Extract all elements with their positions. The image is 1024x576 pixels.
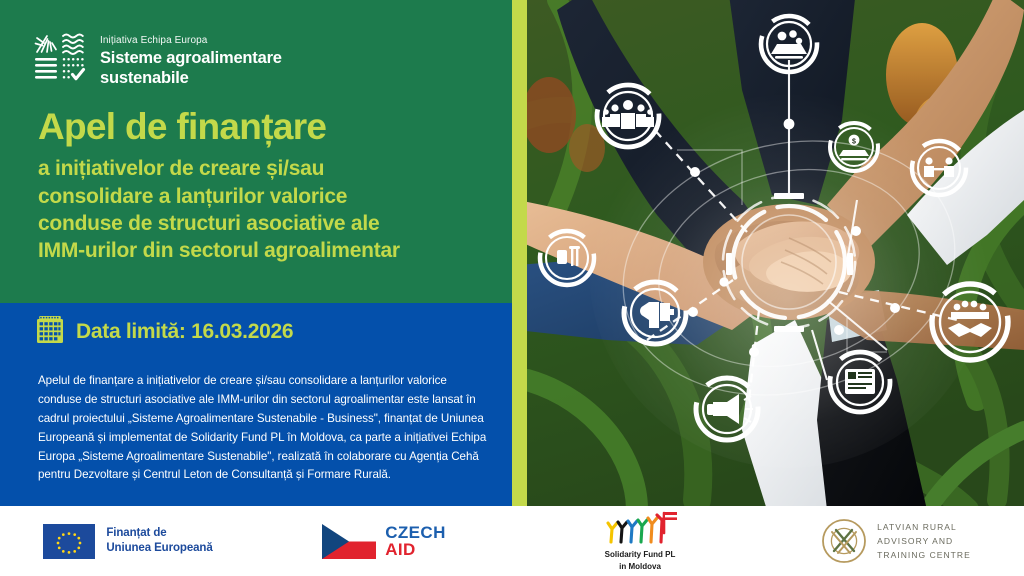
headline-sub-line-1: a inițiativelor de creare și/sau (38, 155, 488, 182)
eu-flag-icon (43, 524, 95, 559)
solidarity-fund-logo: Solidarity Fund PL in Moldova (602, 509, 678, 573)
headline-sub-line-3: conduse de structuri asociative ale (38, 210, 488, 237)
brand-title-line-1: Sisteme agroalimentare (100, 49, 282, 69)
lime-divider-stripe (512, 0, 527, 506)
poster-canvas: Inițiativa Echipa Europa Sisteme agroali… (0, 0, 1024, 576)
headline-block: Apel de finanțare a inițiativelor de cre… (38, 108, 488, 264)
sustainable-agrifood-grid-icon (33, 30, 89, 82)
czech-flag-icon (322, 524, 376, 559)
headline-sub-line-4: IMM-urilor din sectorul agroalimentar (38, 237, 488, 264)
eu-funding-logo: Finanțat de Uniunea Europeană (43, 524, 212, 559)
czech-aid-text: CZECH AID (385, 524, 446, 559)
footer-slot-solidarity: Solidarity Fund PL in Moldova (512, 506, 768, 576)
eu-text-line-2: Uniunea Europeană (106, 541, 212, 556)
eu-text-line-1: Finanțat de (106, 526, 212, 541)
latvian-rural-circle-icon (821, 518, 867, 564)
solidarity-fund-figures-icon (602, 509, 678, 544)
latvian-text-line-3: TRAINING CENTRE (877, 548, 971, 562)
headline-sub-line-2: consolidare a lanțurilor valorice (38, 183, 488, 210)
calendar-icon (36, 315, 64, 349)
solidarity-fund-text: Solidarity Fund PL in Moldova (602, 549, 678, 573)
czech-word-czech: CZECH (385, 524, 446, 542)
latvian-rural-text: LATVIAN RURAL ADVISORY AND TRAINING CENT… (877, 520, 971, 562)
svg-text:$: $ (852, 138, 856, 145)
hero-photo: $ (527, 0, 1024, 510)
czech-word-aid: AID (385, 541, 446, 559)
latvian-text-line-1: LATVIAN RURAL (877, 520, 971, 534)
deadline-row: Data limită: 16.03.2026 (36, 315, 293, 349)
brand-title-line-2: sustenabile (100, 69, 282, 89)
solidarity-text-line-1: Solidarity Fund PL (602, 549, 678, 561)
latvian-rural-logo: LATVIAN RURAL ADVISORY AND TRAINING CENT… (821, 518, 971, 564)
brand-text-block: Inițiativa Echipa Europa Sisteme agroali… (100, 30, 282, 89)
eu-logo-text: Finanțat de Uniunea Europeană (106, 526, 212, 555)
page-title: Apel de finanțare (38, 108, 488, 146)
footer-slot-czech: CZECH AID (256, 506, 512, 576)
deadline-label: Data limită: 16.03.2026 (76, 320, 293, 344)
brand-lockup: Inițiativa Echipa Europa Sisteme agroali… (33, 30, 282, 89)
latvian-text-line-2: ADVISORY AND (877, 534, 971, 548)
body-paragraph: Apelul de finanțare a inițiativelor de c… (38, 372, 493, 485)
partner-logo-footer: Finanțat de Uniunea Europeană CZECH AID (0, 506, 1024, 576)
footer-slot-eu: Finanțat de Uniunea Europeană (0, 506, 256, 576)
czech-aid-logo: CZECH AID (322, 524, 446, 559)
brand-kicker: Inițiativa Echipa Europa (100, 35, 282, 46)
headline-subtitle: a inițiativelor de creare și/sau consoli… (38, 155, 488, 263)
footer-slot-latvian: LATVIAN RURAL ADVISORY AND TRAINING CENT… (768, 506, 1024, 576)
solidarity-text-line-2: in Moldova (602, 561, 678, 573)
